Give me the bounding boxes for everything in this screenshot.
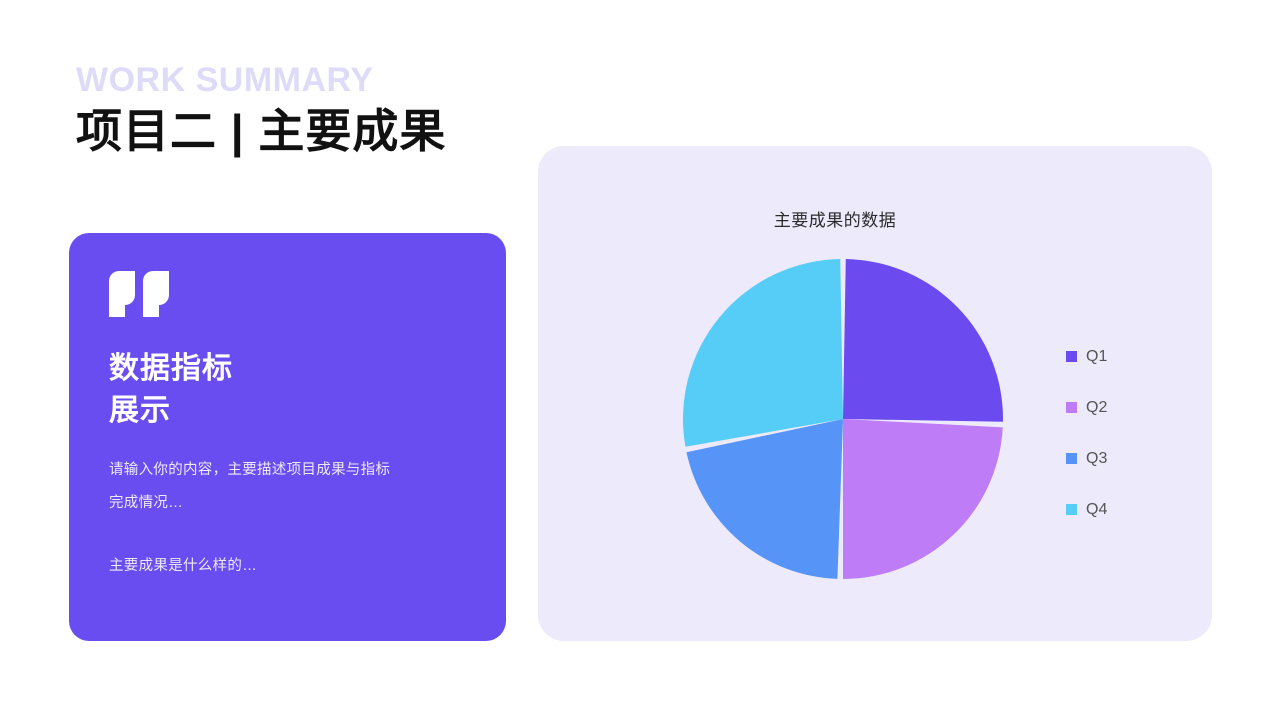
- card-body-line1: 请输入你的内容，主要描述项目成果与指标: [109, 454, 466, 487]
- legend-swatch-q4-icon: [1066, 504, 1077, 515]
- eyebrow-text: WORK SUMMARY: [76, 58, 596, 102]
- card-body: 请输入你的内容，主要描述项目成果与指标 完成情况… 主要成果是什么样的…: [109, 454, 466, 583]
- legend-label: Q3: [1086, 451, 1107, 467]
- heading-block: WORK SUMMARY 项目二 | 主要成果: [76, 58, 596, 162]
- card-heading-line2: 展示: [109, 390, 466, 432]
- chart-panel: 主要成果的数据 Q1Q2Q3Q4: [538, 146, 1212, 641]
- pie-chart-svg: [682, 258, 1004, 580]
- quote-card: 数据指标 展示 请输入你的内容，主要描述项目成果与指标 完成情况… 主要成果是什…: [69, 233, 506, 641]
- pie-slice-q3[interactable]: [686, 419, 843, 579]
- legend-item-q4[interactable]: Q4: [1066, 484, 1186, 535]
- legend-label: Q1: [1086, 349, 1107, 365]
- chart-title: 主要成果的数据: [538, 206, 1212, 231]
- legend-swatch-q2-icon: [1066, 402, 1077, 413]
- legend-swatch-q3-icon: [1066, 453, 1077, 464]
- legend-item-q3[interactable]: Q3: [1066, 433, 1186, 484]
- legend-swatch-q1-icon: [1066, 351, 1077, 362]
- pie-slice-q2[interactable]: [843, 419, 1003, 579]
- card-heading-line1: 数据指标: [109, 348, 466, 390]
- legend-label: Q4: [1086, 502, 1107, 518]
- page-title: 项目二 | 主要成果: [76, 100, 596, 162]
- legend-item-q2[interactable]: Q2: [1066, 382, 1186, 433]
- pie-chart: [682, 258, 1004, 580]
- legend-label: Q2: [1086, 400, 1107, 416]
- double-quote-icon: [109, 271, 171, 317]
- card-body-line3: 主要成果是什么样的…: [109, 550, 466, 583]
- pie-slice-q1[interactable]: [843, 259, 1003, 422]
- card-body-line2: 完成情况…: [109, 487, 466, 520]
- legend-item-q1[interactable]: Q1: [1066, 331, 1186, 382]
- card-body-spacer: [109, 520, 466, 550]
- chart-legend: Q1Q2Q3Q4: [1066, 331, 1186, 535]
- pie-slice-q4[interactable]: [683, 259, 843, 447]
- slide-canvas: WORK SUMMARY 项目二 | 主要成果 数据指标 展示 请输入你的内容，…: [0, 0, 1280, 720]
